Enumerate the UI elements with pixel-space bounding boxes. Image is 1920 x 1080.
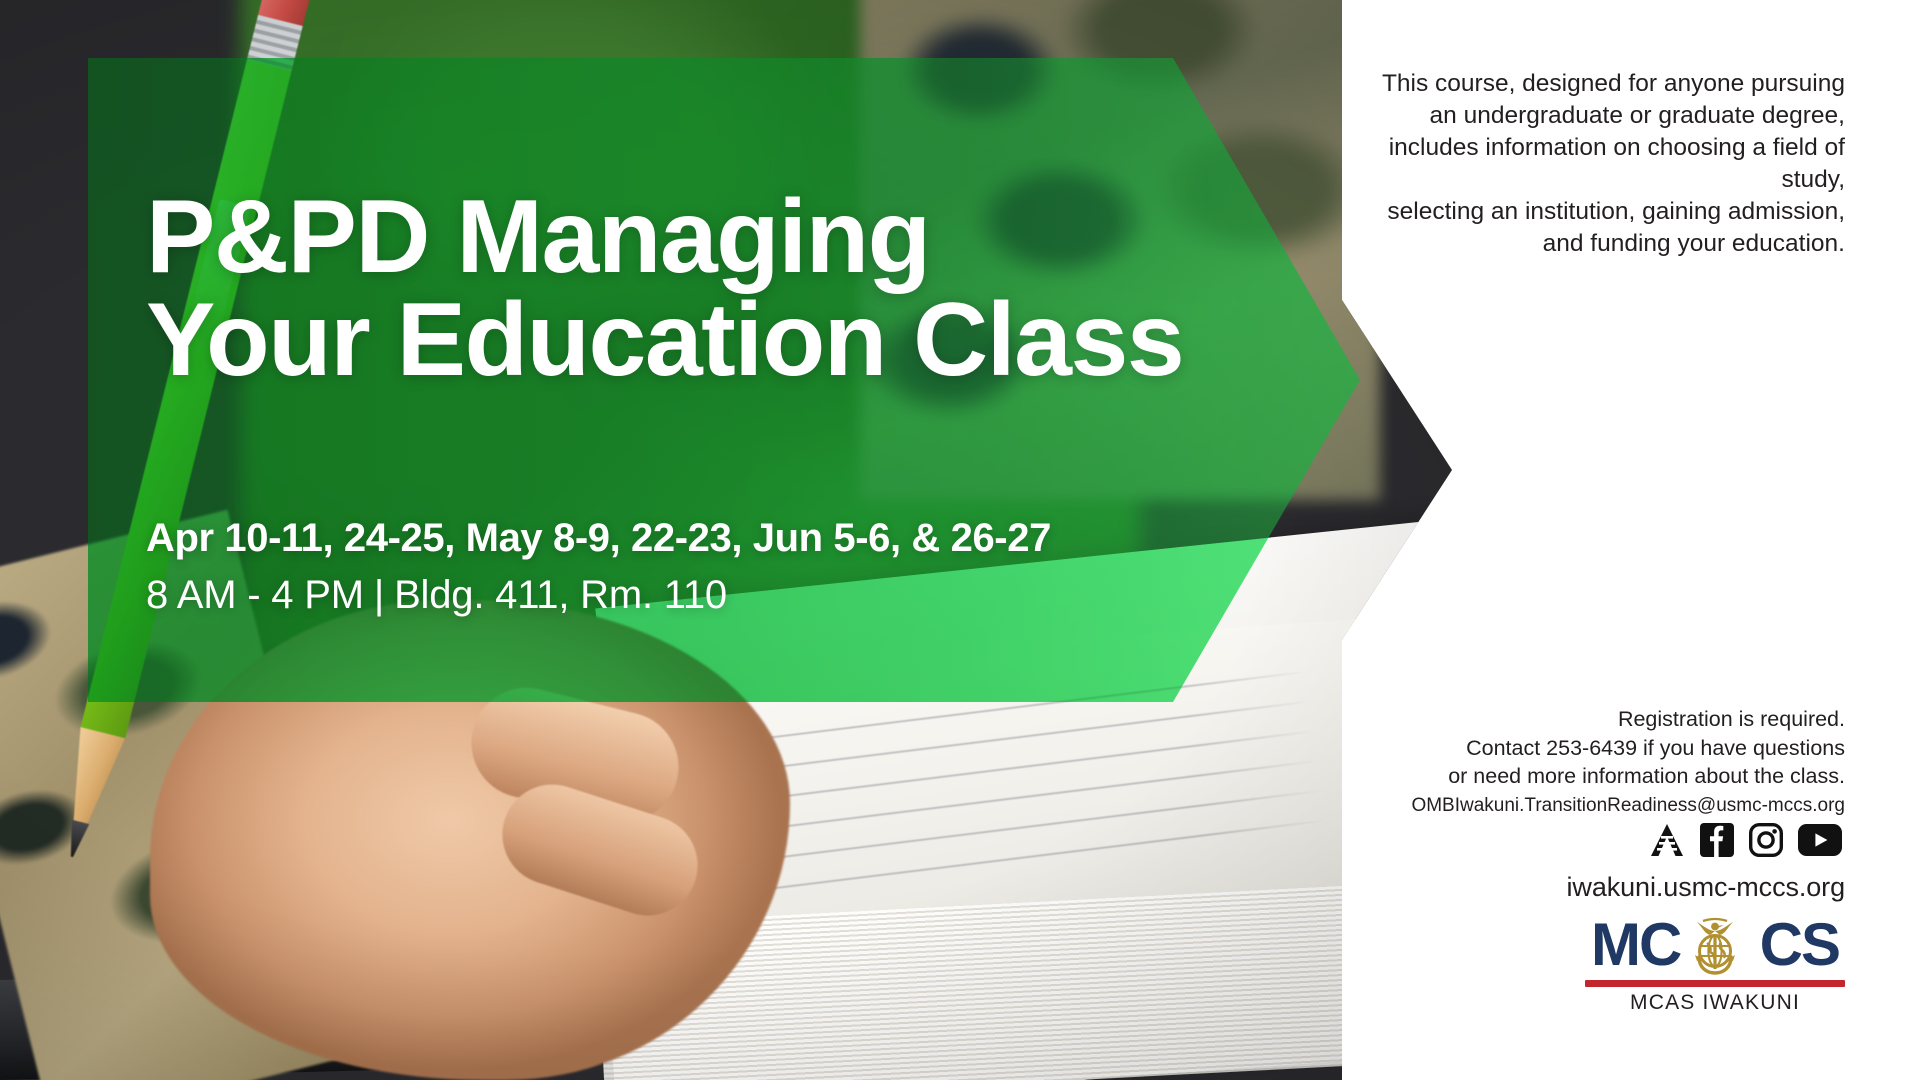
mccs-mc-text: MC [1591,915,1680,975]
title-line-2: Your Education Class [146,289,1266,392]
mccs-subtitle: MCAS IWAKUNI [1585,991,1845,1015]
mccs-red-bar [1585,980,1845,987]
social-media-links [1592,823,1842,857]
youtube-icon[interactable] [1798,824,1842,856]
app-icon[interactable] [1649,823,1685,857]
desc-line-5: and funding your education. [1365,228,1845,260]
title-line-1: P&PD Managing [146,179,930,295]
mccs-logo: MC CS [1585,915,1845,1015]
contact-line-3: or need more information about the class… [1365,762,1845,791]
desc-line-3: includes information on choosing a field… [1365,132,1845,196]
schedule-time-location: 8 AM - 4 PM|Bldg. 411, Rm. 110 [146,573,1246,618]
desc-line-1: This course, designed for anyone pursuin… [1365,68,1845,100]
eagle-globe-anchor-icon [1679,909,1751,981]
schedule-separator: | [364,573,394,617]
schedule-time: 8 AM - 4 PM [146,573,364,617]
contact-email[interactable]: OMBIwakuni.TransitionReadiness@usmc-mccs… [1365,792,1845,821]
website-url[interactable]: iwakuni.usmc-mccs.org [1365,872,1845,903]
facebook-icon[interactable] [1700,823,1734,857]
info-panel: This course, designed for anyone pursuin… [1360,0,1920,1080]
contact-line-1: Registration is required. [1365,705,1845,734]
page-title: P&PD Managing Your Education Class [146,186,1266,392]
schedule-location: Bldg. 411, Rm. 110 [394,573,727,617]
desc-line-2: an undergraduate or graduate degree, [1365,100,1845,132]
schedule-dates: Apr 10-11, 24-25, May 8-9, 22-23, Jun 5-… [146,516,1246,561]
course-description: This course, designed for anyone pursuin… [1365,68,1845,261]
mccs-cs-text: CS [1760,915,1839,975]
instagram-icon[interactable] [1749,823,1783,857]
desc-line-4: selecting an institution, gaining admiss… [1365,196,1845,228]
poster-canvas: P&PD Managing Your Education Class Apr 1… [0,0,1920,1080]
contact-information: Registration is required. Contact 253-64… [1365,705,1845,820]
mccs-wordmark: MC CS [1585,915,1845,977]
contact-line-2: Contact 253-6439 if you have questions [1365,734,1845,763]
